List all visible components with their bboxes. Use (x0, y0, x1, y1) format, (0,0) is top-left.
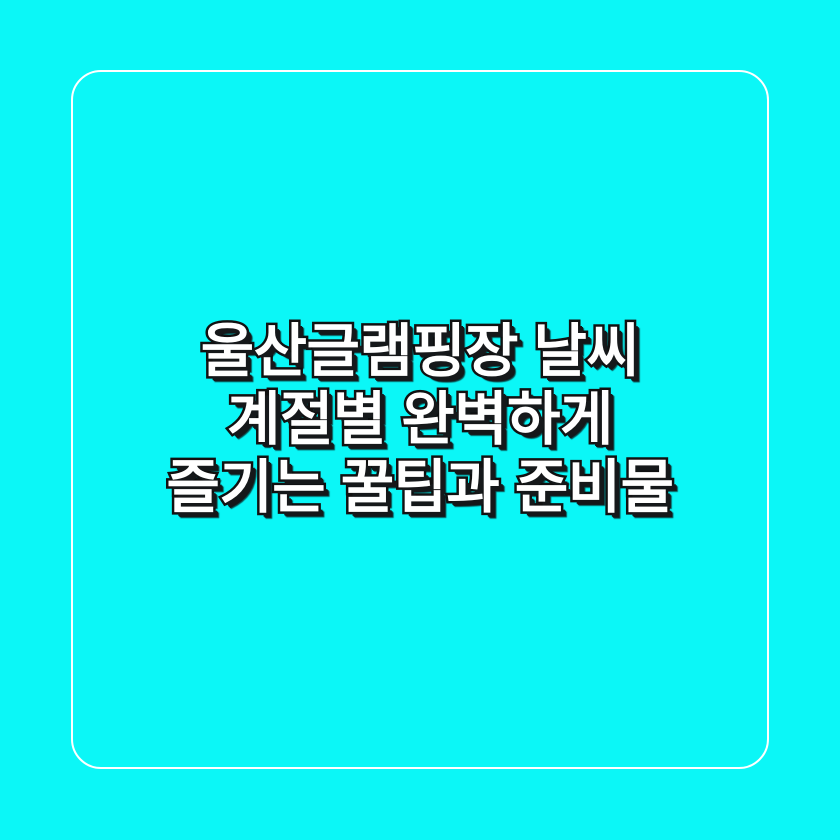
headline-line-2: 계절별 완벽하게 (227, 386, 613, 454)
headline-line-3: 즐기는 꿀팁과 준비물 (167, 454, 674, 522)
headline-text-block: 울산글램핑장 날씨 계절별 완벽하게 즐기는 꿀팁과 준비물 (0, 0, 840, 840)
thumbnail-card: 울산글램핑장 날씨 계절별 완벽하게 즐기는 꿀팁과 준비물 (0, 0, 840, 840)
headline-line-1: 울산글램핑장 날씨 (201, 318, 640, 386)
